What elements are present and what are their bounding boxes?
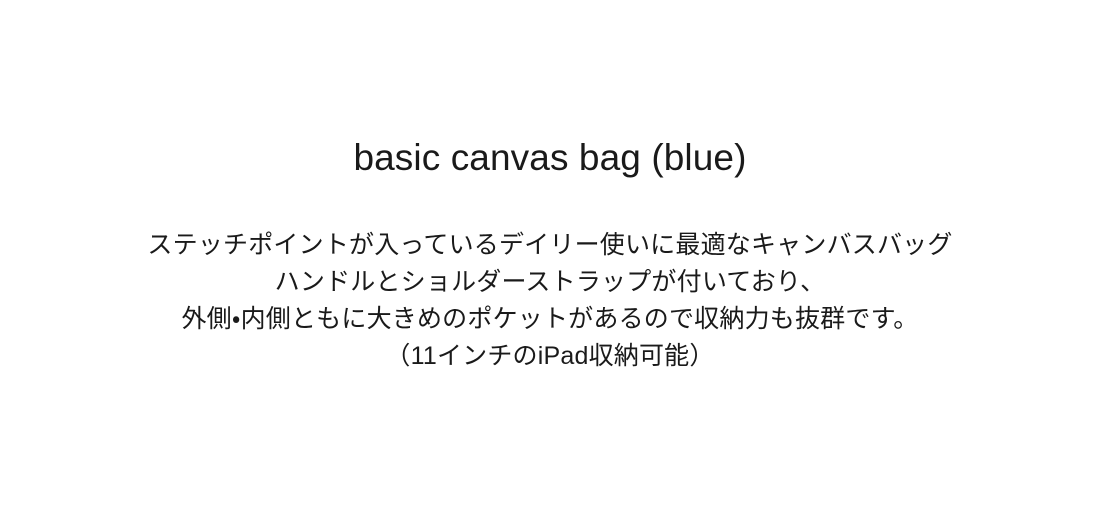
content-block: basic canvas bag (blue) ステッチポイントが入っているデイ… bbox=[0, 136, 1100, 375]
page-title: basic canvas bag (blue) bbox=[0, 136, 1100, 180]
description-line: （11インチのiPad収納可能） bbox=[0, 338, 1100, 375]
description-line: ステッチポイントが入っているデイリー使いに最適なキャンバスバッグ bbox=[0, 227, 1100, 264]
product-description: ステッチポイントが入っているデイリー使いに最適なキャンバスバッグ ハンドルとショ… bbox=[0, 227, 1100, 375]
product-description-slide: basic canvas bag (blue) ステッチポイントが入っているデイ… bbox=[0, 0, 1100, 514]
description-line: ハンドルとショルダーストラップが付いており、 bbox=[0, 264, 1100, 301]
description-line: 外側・内側ともに大きめのポケットがあるので収納力も抜群です。 bbox=[0, 301, 1100, 338]
